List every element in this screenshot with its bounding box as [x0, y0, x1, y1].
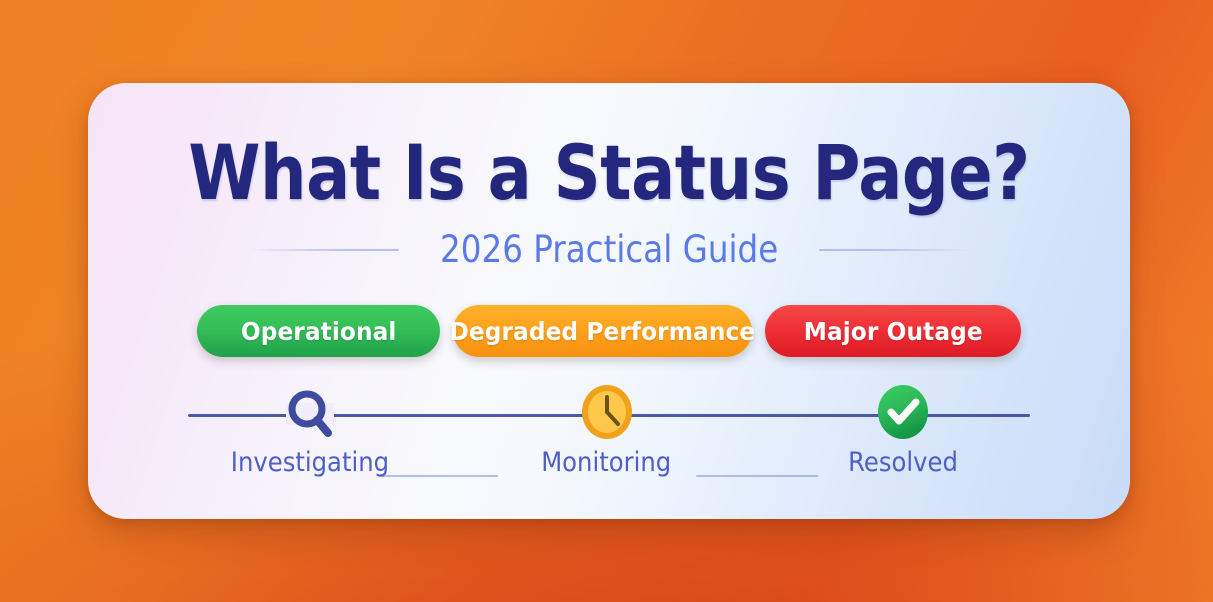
subtitle-rule-right — [819, 249, 969, 251]
status-badge-operational-label: Operational — [241, 317, 397, 346]
timeline-step-resolved[interactable]: Resolved — [803, 383, 1003, 493]
clock-icon — [578, 381, 636, 445]
timeline-step-resolved-label: Resolved — [848, 447, 958, 478]
timeline-step-monitoring-label: Monitoring — [542, 447, 672, 478]
status-badge-row: Operational Degraded Performance Major O… — [88, 305, 1130, 357]
poster-canvas: What Is a Status Page? 2026 Practical Gu… — [0, 0, 1213, 602]
subtitle-rule-left — [249, 249, 399, 251]
timeline-steps: Investigating Monitoring — [188, 383, 1030, 493]
magnifier-icon — [280, 381, 340, 445]
status-badge-degraded-performance[interactable]: Degraded Performance — [453, 305, 752, 357]
timeline-step-investigating-label: Investigating — [231, 447, 389, 478]
incident-timeline: Investigating Monitoring — [188, 383, 1030, 493]
check-circle-icon — [874, 381, 932, 445]
timeline-label-rule-2 — [696, 475, 818, 477]
status-page-card: What Is a Status Page? 2026 Practical Gu… — [88, 83, 1130, 519]
timeline-step-investigating[interactable]: Investigating — [210, 383, 410, 493]
timeline-label-rule-1 — [378, 475, 498, 477]
status-badge-major-outage[interactable]: Major Outage — [765, 305, 1021, 357]
status-badge-major-outage-label: Major Outage — [804, 317, 983, 346]
status-badge-operational[interactable]: Operational — [197, 305, 440, 357]
page-title: What Is a Status Page? — [161, 135, 1057, 211]
subtitle-row: 2026 Practical Guide — [88, 231, 1130, 268]
status-badge-degraded-performance-label: Degraded Performance — [450, 317, 756, 346]
timeline-step-monitoring[interactable]: Monitoring — [507, 383, 707, 493]
page-subtitle: 2026 Practical Guide — [440, 231, 778, 268]
